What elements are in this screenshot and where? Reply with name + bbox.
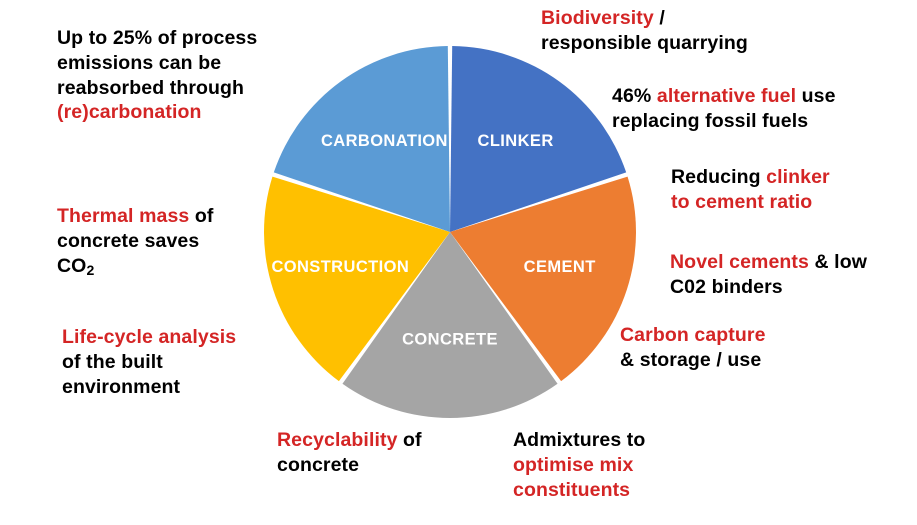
note-line-highlight: Recyclability [277, 429, 398, 451]
note-line: replacing fossil fuels [612, 110, 808, 132]
note-line-highlight: optimise mix [513, 454, 633, 476]
note-line: CO [57, 255, 86, 277]
note-line: of process [152, 27, 257, 49]
note-line: Reducing [671, 166, 766, 188]
infographic-canvas: CLINKERCEMENTCONCRETECONSTRUCTIONCARBONA… [0, 0, 917, 525]
note-clinker-to-cement-ratio: Reducing clinker to cement ratio [671, 165, 911, 215]
note-biodiversity: Biodiversity / responsible quarrying [541, 6, 841, 56]
note-line-highlight: (re)carbonation [57, 101, 202, 123]
pie-slice-label-cement: CEMENT [524, 258, 596, 276]
note-line-highlight: Life-cycle analysis [62, 326, 236, 348]
note-line-highlight: clinker [766, 166, 830, 188]
pie-slice-label-concrete: CONCRETE [402, 330, 498, 348]
note-line: concrete [277, 454, 359, 476]
note-thermal-mass: Thermal mass of concrete saves CO2 [57, 204, 272, 279]
note-line: & low [809, 251, 867, 273]
note-line: C02 binders [670, 276, 783, 298]
note-line-highlight: constituents [513, 479, 630, 501]
note-carbonation-reabsorption: Up to 25% of process emissions can be re… [57, 26, 307, 125]
note-carbon-capture: Carbon capture & storage / use [620, 323, 835, 373]
note-line: Admixtures to [513, 429, 645, 451]
note-line: use [796, 85, 835, 107]
note-line: concrete saves [57, 230, 199, 252]
note-line: reabsorbed through [57, 77, 244, 99]
note-line: Up to 25% [57, 27, 152, 49]
note-line-highlight: to cement ratio [671, 191, 812, 213]
note-novel-cements: Novel cements & low C02 binders [670, 250, 910, 300]
note-admixtures: Admixtures to optimise mix constituents [513, 428, 728, 502]
note-recyclability: Recyclability of concrete [277, 428, 477, 478]
note-line: of the built [62, 351, 163, 373]
cement-lifecycle-pie-chart: CLINKERCEMENTCONCRETECONSTRUCTIONCARBONA… [263, 45, 637, 419]
note-life-cycle-analysis: Life-cycle analysis of the built environ… [62, 325, 287, 399]
note-line: 46% [612, 85, 651, 107]
note-line: of [398, 429, 422, 451]
note-line: emissions can be [57, 52, 221, 74]
note-line-highlight: alternative fuel [657, 85, 796, 107]
note-alternative-fuel: 46% alternative fuel use replacing fossi… [612, 84, 902, 134]
note-line-highlight: Thermal mass [57, 205, 189, 227]
note-line: responsible quarrying [541, 32, 748, 54]
note-line: / [654, 7, 665, 29]
pie-slice-label-clinker: CLINKER [478, 132, 554, 150]
note-line-highlight: Biodiversity [541, 7, 654, 29]
note-line: & storage / use [620, 349, 761, 371]
note-line-highlight: Novel cements [670, 251, 809, 273]
note-subscript: 2 [86, 262, 94, 278]
pie-slice-label-carbonation: CARBONATION [321, 132, 448, 150]
note-line: environment [62, 376, 180, 398]
note-line-highlight: Carbon capture [620, 324, 766, 346]
note-line: of [189, 205, 213, 227]
pie-slice-label-construction: CONSTRUCTION [271, 258, 409, 276]
